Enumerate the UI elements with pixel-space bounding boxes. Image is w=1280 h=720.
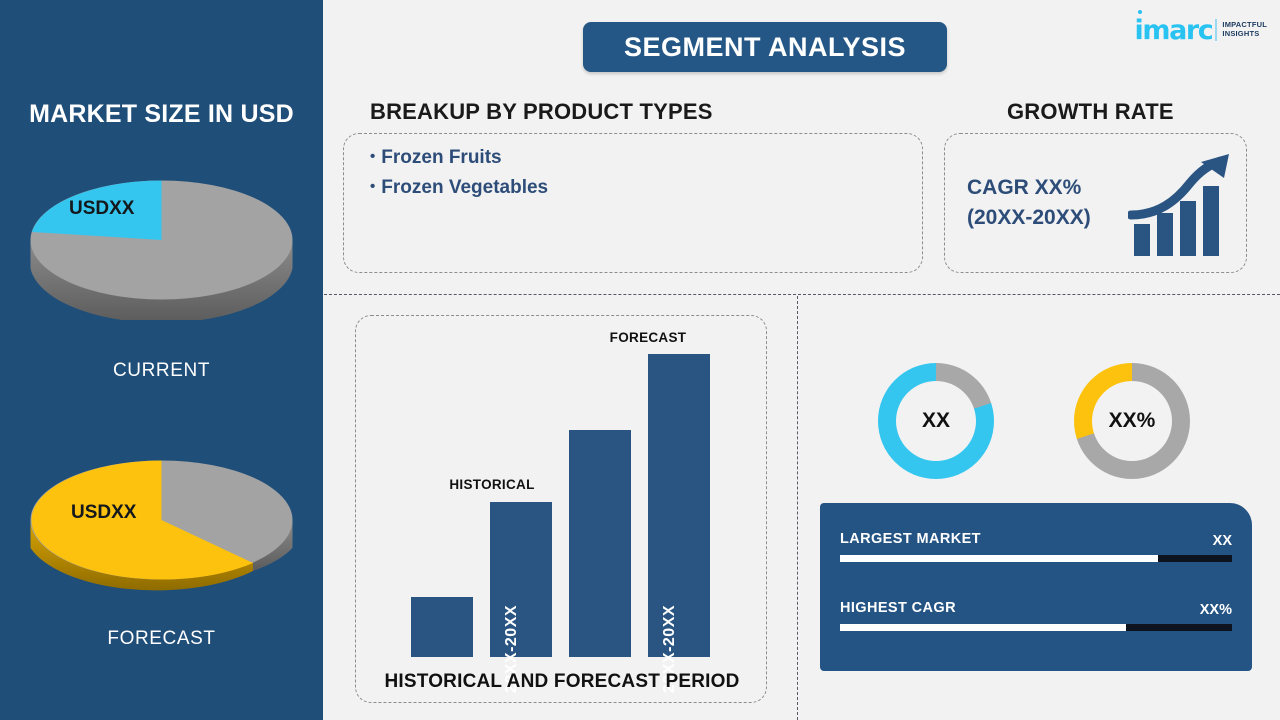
bar-1 xyxy=(411,597,473,657)
donut-2-label: XX% xyxy=(1109,409,1156,433)
pie-forecast-svg xyxy=(29,440,294,600)
banner-title: SEGMENT ANALYSIS xyxy=(624,32,906,63)
bar-chart: HISTORICAL 20XX-20XX FORECAST 20XX-20XX xyxy=(356,337,768,657)
logo-wordmark: imarc xyxy=(1134,17,1212,44)
list-item: Frozen Fruits xyxy=(370,142,548,172)
logo-word-text: imarc xyxy=(1134,15,1212,46)
stat-row-largest-market: LARGEST MARKET XX xyxy=(840,530,1232,562)
stat-progress-fill xyxy=(840,555,1158,562)
bar-4-top-label: FORECAST xyxy=(588,330,708,345)
stat-progress-fill xyxy=(840,624,1126,631)
historical-forecast-chart-box: HISTORICAL 20XX-20XX FORECAST 20XX-20XX … xyxy=(355,315,767,703)
breakup-box: Frozen Fruits Frozen Vegetables xyxy=(343,133,923,273)
logo-tag-line-2: INSIGHTS xyxy=(1222,30,1267,39)
donut-1-hole: XX xyxy=(896,381,976,461)
horizontal-divider xyxy=(324,294,1280,295)
cagr-text: CAGR XX% (20XX-20XX) xyxy=(967,173,1091,233)
bar-3 xyxy=(569,430,631,657)
bar-2: 20XX-20XX xyxy=(490,502,552,657)
donut-chart-2: XX% xyxy=(1074,363,1190,479)
pie-chart-current: USDXX xyxy=(29,160,294,320)
market-size-title: MARKET SIZE IN USD xyxy=(0,100,323,129)
logo-dot-icon xyxy=(1138,10,1142,14)
vertical-divider xyxy=(797,296,798,720)
stat-progress-track xyxy=(840,555,1232,562)
stat-label: LARGEST MARKET xyxy=(840,531,981,547)
pie-current-caption: CURRENT xyxy=(0,360,323,382)
stat-row-highest-cagr: HIGHEST CAGR XX% xyxy=(840,599,1232,631)
list-item: Frozen Vegetables xyxy=(370,172,548,202)
stat-progress-track xyxy=(840,624,1232,631)
pie-current-svg xyxy=(29,160,294,320)
pie-chart-forecast: USDXX xyxy=(29,440,294,600)
donut-chart-1: XX xyxy=(878,363,994,479)
breakup-list: Frozen Fruits Frozen Vegetables xyxy=(370,142,548,202)
cagr-value: CAGR XX% xyxy=(967,173,1091,203)
growth-rate-box: CAGR XX% (20XX-20XX) xyxy=(944,133,1247,273)
key-indicators-card: LARGEST MARKET XX HIGHEST CAGR XX% xyxy=(820,503,1252,671)
stat-value: XX% xyxy=(1200,602,1232,618)
imarc-logo: imarc IMPACTFUL INSIGHTS xyxy=(1134,14,1267,46)
donut-1-label: XX xyxy=(922,409,950,433)
logo-divider xyxy=(1215,19,1217,41)
stat-value: XX xyxy=(1213,533,1232,549)
bar-2-top-label: HISTORICAL xyxy=(432,477,552,492)
bar-chart-caption: HISTORICAL AND FORECAST PERIOD xyxy=(356,671,768,693)
cagr-period: (20XX-20XX) xyxy=(967,203,1091,233)
pie-forecast-caption: FORECAST xyxy=(0,628,323,650)
segment-analysis-banner: SEGMENT ANALYSIS xyxy=(583,22,947,72)
breakup-section-title: BREAKUP BY PRODUCT TYPES xyxy=(370,99,713,125)
growth-arrow-chart-icon xyxy=(1128,151,1233,261)
bar-4: 20XX-20XX xyxy=(648,354,710,657)
infographic-canvas: MARKET SIZE IN USD USDXX CURRENT xyxy=(0,0,1280,720)
stat-label: HIGHEST CAGR xyxy=(840,600,956,616)
growth-rate-section-title: GROWTH RATE xyxy=(1007,99,1174,125)
donut-2-hole: XX% xyxy=(1092,381,1172,461)
logo-tagline: IMPACTFUL INSIGHTS xyxy=(1222,21,1267,38)
market-size-panel: MARKET SIZE IN USD USDXX CURRENT xyxy=(0,0,323,720)
